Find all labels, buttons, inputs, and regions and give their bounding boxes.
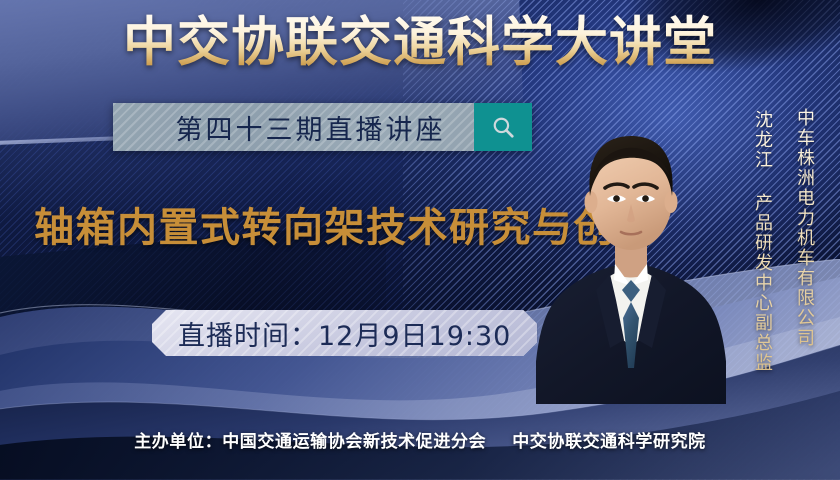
poster-canvas: 中交协联交通科学大讲堂 第四十三期直播讲座 轴箱内置式转向架技术研究与创新 直播… xyxy=(0,0,840,480)
subtitle-label-box: 第四十三期直播讲座 xyxy=(113,103,474,151)
speaker-portrait xyxy=(536,104,726,404)
footer-org-2: 中交协联交通科学研究院 xyxy=(512,432,706,452)
footer-organizers: 主办单位：中国交通运输协会新技术促进分会中交协联交通科学研究院 xyxy=(0,427,840,452)
subtitle-bar: 第四十三期直播讲座 xyxy=(113,103,532,151)
speaker-name-role: 沈龙江 产品研发中心副总监 xyxy=(749,110,774,373)
broadcast-time-text: 直播时间：12月9日19:30 xyxy=(178,314,511,353)
broadcast-time-badge: 直播时间：12月9日19:30 xyxy=(152,310,537,356)
search-icon xyxy=(491,115,516,140)
footer-org-1: 中国交通运输协会新技术促进分会 xyxy=(222,432,486,452)
subtitle-label: 第四十三期直播讲座 xyxy=(142,108,446,147)
search-button[interactable] xyxy=(474,103,532,151)
speaker-organization: 中车株洲电力机车有限公司 xyxy=(791,108,816,348)
footer-prefix: 主办单位： xyxy=(134,432,222,452)
page-title: 中交协联交通科学大讲堂 xyxy=(0,14,840,71)
